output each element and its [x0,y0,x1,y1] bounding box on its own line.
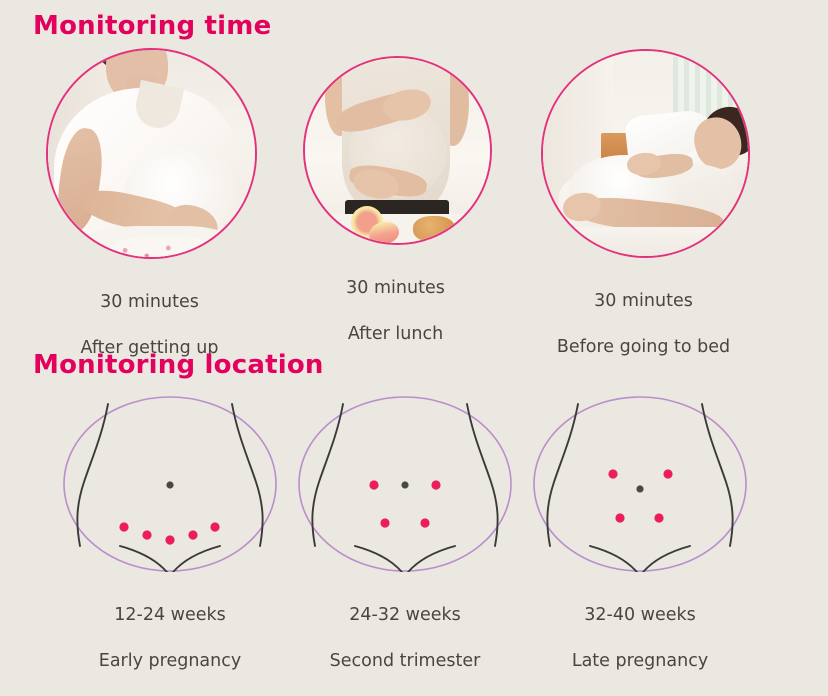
monitoring-dot-2 [431,480,440,489]
pregnant-woman-standing-hand-under-belly-photo [46,48,257,259]
navel-marker [401,481,408,488]
time-card-3-line2: Before going to bed [541,336,746,359]
monitoring-dot-1 [608,469,617,478]
time-card-3: 30 minutes Before going to bed [541,49,750,382]
time-card-3-line1: 30 minutes [541,290,746,313]
navel-marker [166,481,173,488]
pregnant-woman-with-grapefruit-and-pastry-photo [303,56,492,245]
location-card-2-caption: 24-32 weeks Second trimester [297,581,513,696]
monitoring-dot-4 [188,530,197,539]
time-card-3-caption: 30 minutes Before going to bed [541,267,746,382]
monitoring-dot-3 [615,513,624,522]
time-card-2-line2: After lunch [303,323,488,346]
monitoring-dot-2 [663,469,672,478]
monitoring-dot-5 [210,522,219,531]
location-card-3: 32-40 weeks Late pregnancy [532,396,748,696]
abdomen-diagram-late-pregnancy [532,396,748,572]
location-card-2-line2: Second trimester [297,650,513,673]
time-card-1-line1: 30 minutes [46,291,253,314]
monitoring-dot-4 [654,513,663,522]
location-card-2-line1: 24-32 weeks [297,604,513,627]
section-title-monitoring-location: Monitoring location [33,350,324,380]
section-title-monitoring-time: Monitoring time [33,11,271,41]
navel-marker [636,485,643,492]
pregnant-woman-reclining-in-bed-photo [541,49,750,258]
abdomen-diagram-second-trimester [297,396,513,572]
monitoring-dot-1 [119,522,128,531]
time-card-1: 30 minutes After getting up [46,48,257,383]
location-card-2: 24-32 weeks Second trimester [297,396,513,696]
diagram-outline-circle [534,397,746,571]
location-card-1-caption: 12-24 weeks Early pregnancy [62,581,278,696]
location-card-1-line2: Early pregnancy [62,650,278,673]
time-card-2-line1: 30 minutes [303,277,488,300]
location-card-1: 12-24 weeks Early pregnancy [62,396,278,696]
monitoring-dot-4 [420,518,429,527]
location-card-3-line2: Late pregnancy [532,650,748,673]
location-card-3-line1: 32-40 weeks [532,604,748,627]
time-card-2: 30 minutes After lunch [303,56,492,369]
location-card-1-line1: 12-24 weeks [62,604,278,627]
abdomen-diagram-early-pregnancy [62,396,278,572]
monitoring-dot-3 [380,518,389,527]
monitoring-dot-1 [369,480,378,489]
monitoring-dot-3 [165,535,174,544]
monitoring-dot-2 [142,530,151,539]
location-card-3-caption: 32-40 weeks Late pregnancy [532,581,748,696]
time-card-2-caption: 30 minutes After lunch [303,254,488,369]
